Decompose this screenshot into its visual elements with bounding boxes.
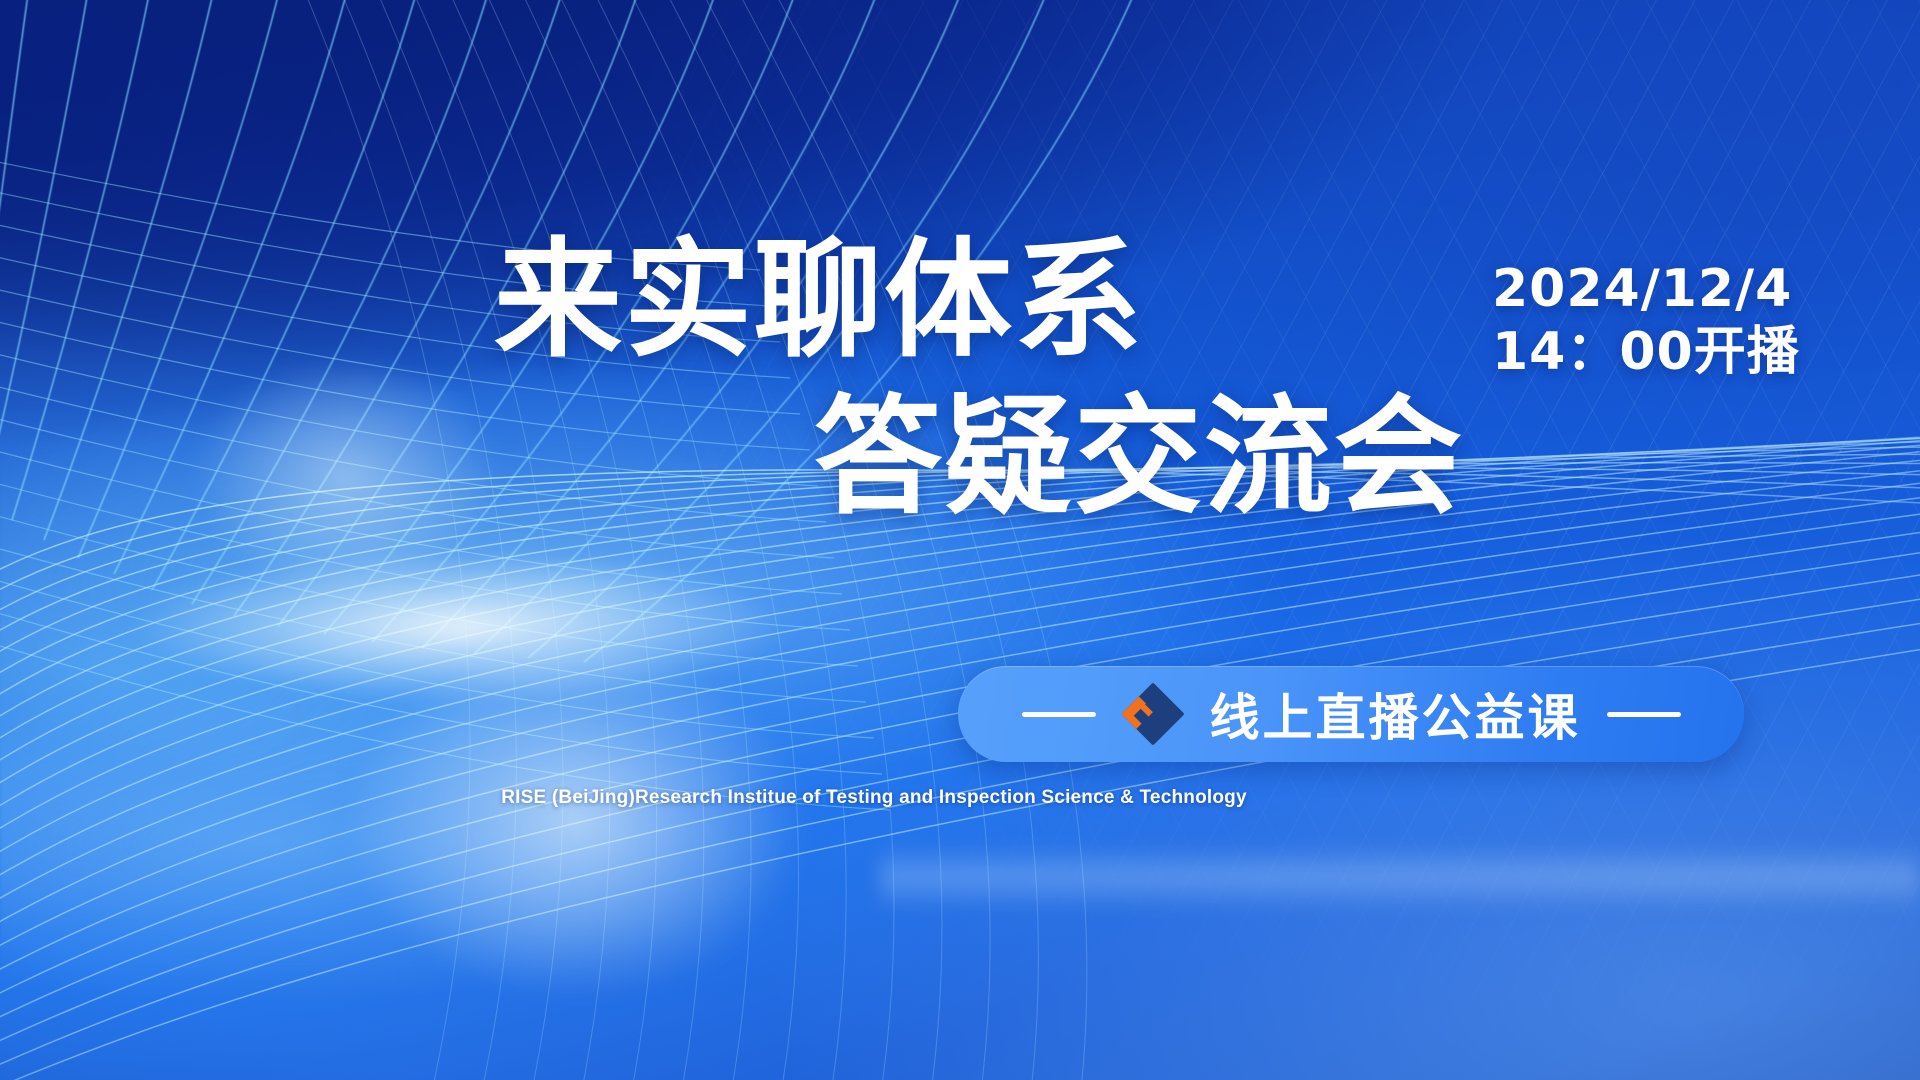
rise-diamond-logo-icon [1122, 683, 1184, 745]
badge-dash-right [1607, 712, 1681, 717]
promo-poster: 来实聊体系 答疑交流会 2024/12/4 14：00开播 线上直播公益课 RI… [0, 0, 1920, 1080]
poster-title: 来实聊体系 答疑交流会 [494, 236, 1494, 523]
broadcast-date: 2024/12/4 [1492, 258, 1800, 321]
live-class-badge[interactable]: 线上直播公益课 [958, 666, 1744, 762]
organization-name-en: RISE (BeiJing)Research Institue of Testi… [0, 787, 1920, 809]
broadcast-datetime: 2024/12/4 14：00开播 [1492, 258, 1800, 385]
poster-content: 来实聊体系 答疑交流会 2024/12/4 14：00开播 线上直播公益课 RI… [0, 0, 1920, 1080]
title-line-2: 答疑交流会 [494, 393, 1494, 524]
badge-label: 线上直播公益课 [1210, 678, 1581, 750]
broadcast-time: 14：00开播 [1492, 321, 1800, 384]
badge-dash-left [1022, 712, 1096, 717]
title-line-1: 来实聊体系 [494, 236, 1494, 367]
